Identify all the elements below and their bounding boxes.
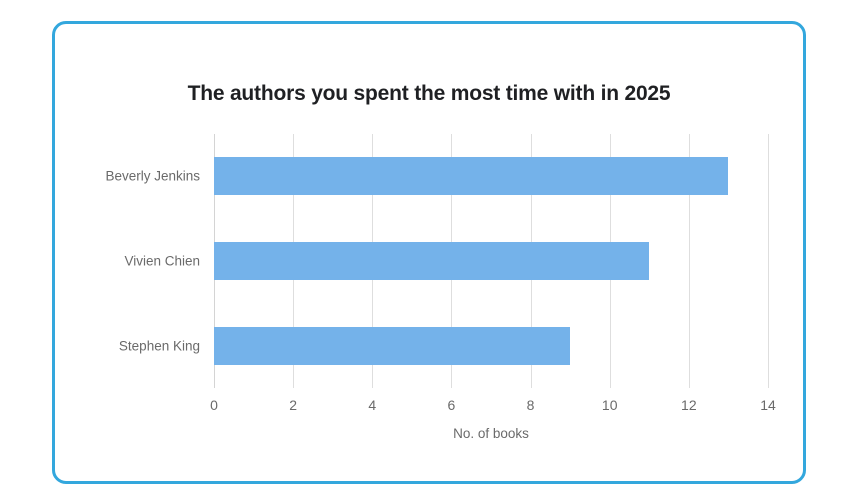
bar-vivien-chien [214, 242, 649, 280]
y-axis-label: Vivien Chien [124, 254, 200, 269]
x-gridline-14 [768, 134, 769, 388]
chart-title: The authors you spent the most time with… [55, 82, 803, 106]
x-tick-label: 6 [448, 397, 456, 413]
x-axis-title: No. of books [214, 426, 768, 441]
plot-area: 02468101214Beverly JenkinsVivien ChienSt… [214, 134, 768, 388]
screenshot-root: The authors you spent the most time with… [0, 0, 858, 499]
x-tick-label: 12 [681, 397, 697, 413]
x-tick-label: 10 [602, 397, 618, 413]
y-axis-label: Stephen King [119, 338, 200, 353]
bar-beverly-jenkins [214, 157, 728, 195]
bar-stephen-king [214, 327, 570, 365]
x-tick-label: 14 [760, 397, 776, 413]
y-axis-label: Beverly Jenkins [105, 169, 200, 184]
x-tick-label: 4 [368, 397, 376, 413]
x-tick-label: 2 [289, 397, 297, 413]
chart-card: The authors you spent the most time with… [52, 21, 806, 484]
x-tick-label: 0 [210, 397, 218, 413]
x-tick-label: 8 [527, 397, 535, 413]
